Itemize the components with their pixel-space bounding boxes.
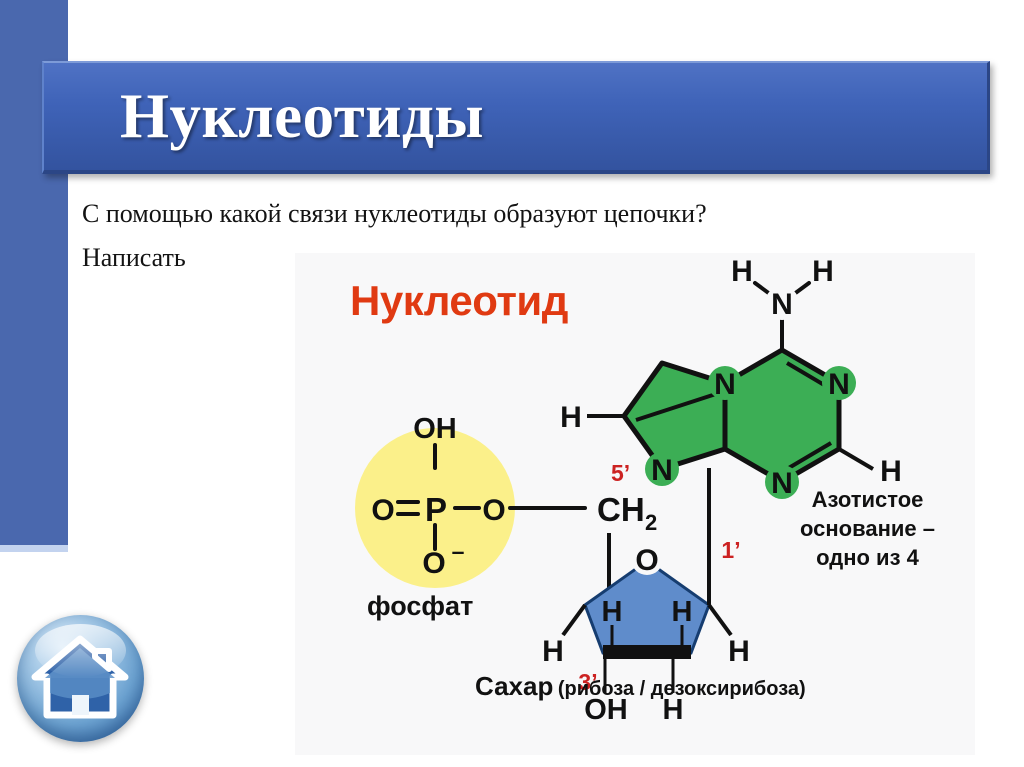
svg-text:H: H — [672, 596, 693, 628]
svg-text:P: P — [425, 491, 447, 528]
svg-text:OH: OH — [413, 413, 457, 445]
nitrogenous-base-label: Азотистое основание – одно из 4 — [760, 485, 975, 572]
sugar-label: Сахар (рибоза / дезоксирибоза) — [475, 671, 806, 702]
home-icon — [17, 615, 144, 742]
base-label-line-3: одно из 4 — [760, 543, 975, 572]
svg-text:H: H — [880, 455, 902, 488]
svg-text:H: H — [602, 596, 623, 628]
svg-text:O: O — [371, 494, 394, 527]
svg-text:2: 2 — [645, 510, 657, 535]
body-line-question: С помощью какой связи нуклеотиды образую… — [82, 192, 952, 236]
home-button[interactable] — [17, 615, 144, 742]
sidebar-decoration-bar-edge — [0, 545, 68, 552]
svg-text:N: N — [828, 368, 850, 401]
nucleotide-figure-panel: Нуклеотид OH O P O O — [295, 253, 975, 755]
sugar-label-paren: (рибоза / дезоксирибоза) — [558, 678, 806, 700]
svg-text:H: H — [728, 635, 750, 668]
page-title: Нуклеотиды — [120, 85, 484, 148]
svg-text:H: H — [731, 255, 753, 288]
svg-text:CH: CH — [597, 491, 645, 528]
phosphate-label: фосфат — [367, 591, 473, 622]
svg-text:1’: 1’ — [721, 537, 740, 563]
svg-text:N: N — [771, 288, 793, 321]
slide-title-plaque: Нуклеотиды — [42, 61, 990, 174]
base-label-line-2: основание – — [760, 514, 975, 543]
svg-text:O: O — [635, 544, 658, 577]
svg-text:5’: 5’ — [611, 460, 630, 486]
base-label-line-1: Азотистое — [760, 485, 975, 514]
svg-text:H: H — [812, 255, 834, 288]
svg-text:O: O — [422, 547, 445, 580]
slide-canvas: Нуклеотиды С помощью какой связи нуклеот… — [0, 0, 1024, 767]
svg-text:H: H — [542, 635, 564, 668]
svg-text:H: H — [560, 401, 582, 434]
svg-text:N: N — [714, 368, 736, 401]
sugar-label-main: Сахар — [475, 671, 553, 701]
svg-text:N: N — [651, 454, 673, 487]
svg-text:–: – — [452, 538, 465, 564]
svg-text:O: O — [482, 494, 505, 527]
